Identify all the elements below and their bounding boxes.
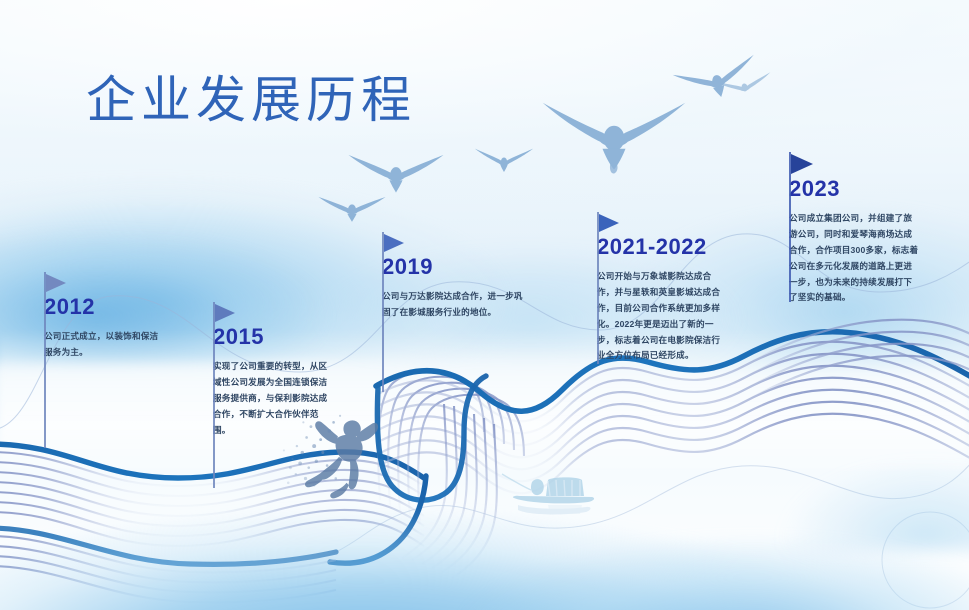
milestone-desc-2012: 公司正式成立，以装饰和保洁服务为主。 bbox=[44, 329, 164, 361]
milestone-2012[interactable]: 2012 公司正式成立，以装饰和保洁服务为主。 bbox=[44, 296, 164, 361]
flag-icon-2012 bbox=[46, 274, 66, 292]
milestone-year-2012: 2012 bbox=[44, 296, 164, 318]
flag-icon-2019 bbox=[384, 234, 404, 252]
milestone-desc-2023: 公司成立集团公司，并组建了旅游公司，同时和爱琴海商场达成合作，合作项目300多家… bbox=[789, 211, 919, 306]
milestone-year-2015: 2015 bbox=[213, 326, 329, 348]
milestone-desc-2015: 实现了公司重要的转型，从区域性公司发展为全国连锁保洁服务提供商，与保利影院达成合… bbox=[213, 359, 329, 438]
milestone-desc-2021-2022: 公司开始与万象城影院达成合作，并与星轶和英皇影城达成合作，目前公司合作系统更加多… bbox=[597, 269, 725, 364]
milestone-year-2023: 2023 bbox=[789, 178, 919, 200]
flag-pole-2023 bbox=[789, 152, 791, 302]
flag-icon-2021-2022 bbox=[599, 214, 619, 232]
flag-pole-2015 bbox=[213, 302, 215, 488]
milestone-2019[interactable]: 2019 公司与万达影院达成合作，进一步巩固了在影城服务行业的地位。 bbox=[382, 256, 524, 321]
milestone-2023[interactable]: 2023 公司成立集团公司，并组建了旅游公司，同时和爱琴海商场达成合作，合作项目… bbox=[789, 178, 919, 306]
milestone-2021-2022[interactable]: 2021-2022 公司开始与万象城影院达成合作，并与星轶和英皇影城达成合作，目… bbox=[597, 236, 725, 364]
fishing-boat-silhouette bbox=[502, 474, 594, 514]
flag-icon-2023 bbox=[791, 154, 813, 174]
page-title: 企业发展历程 bbox=[86, 60, 416, 132]
flag-icon-2015 bbox=[215, 304, 235, 322]
milestone-year-2019: 2019 bbox=[382, 256, 524, 278]
flag-pole-2019 bbox=[382, 232, 384, 392]
milestone-year-2021-2022: 2021-2022 bbox=[597, 236, 725, 258]
poster-canvas: 2012 公司正式成立，以装饰和保洁服务为主。 2015 实现了公司重要的转型，… bbox=[0, 0, 969, 610]
milestone-2015[interactable]: 2015 实现了公司重要的转型，从区域性公司发展为全国连锁保洁服务提供商，与保利… bbox=[213, 326, 329, 438]
milestone-desc-2019: 公司与万达影院达成合作，进一步巩固了在影城服务行业的地位。 bbox=[382, 289, 524, 321]
flag-pole-2012 bbox=[44, 272, 46, 448]
flag-pole-2021-2022 bbox=[597, 212, 599, 364]
